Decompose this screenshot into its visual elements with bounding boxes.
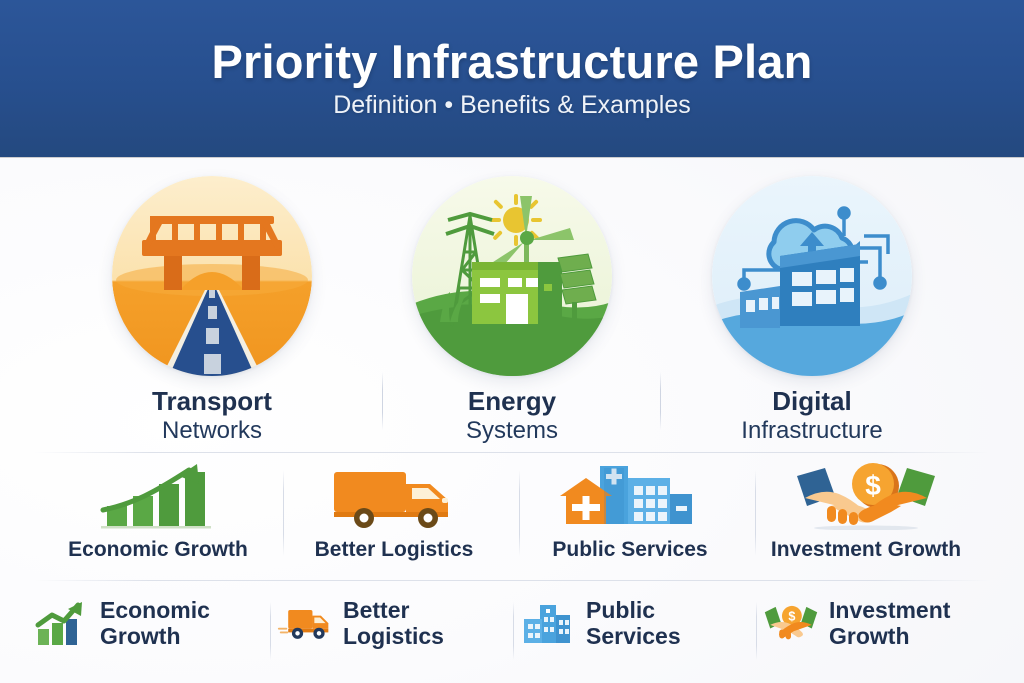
svg-text:$: $: [788, 609, 795, 623]
page-subtitle: Definition • Benefits & Examples: [333, 92, 691, 120]
benefit-compact-line1: Better: [343, 598, 444, 624]
benefit-compact-better-logistics[interactable]: Better Logistics: [269, 598, 512, 650]
benefit-compact-line2: Services: [586, 624, 681, 650]
benefit-compact-line1: Economic: [100, 598, 210, 624]
benefit-label: Economic Growth: [68, 538, 248, 562]
benefits-row: Economic Growth Better Logistics: [40, 462, 984, 574]
hospital-buildings-icon: [520, 601, 576, 647]
pillar-subtitle: Networks: [162, 417, 262, 445]
growth-chart-icon: [93, 462, 223, 530]
delivery-truck-icon: [324, 462, 464, 530]
handshake-dollar-icon: $: [763, 601, 819, 647]
benefits-compact-row: Economic Growth Bet: [26, 588, 998, 660]
pillar-divider: [660, 372, 661, 430]
delivery-truck-icon: [277, 601, 333, 647]
pillar-title: Digital: [772, 386, 851, 417]
benefit-label: Investment Growth: [771, 538, 961, 562]
benefit-investment-growth[interactable]: $ Investment Growth: [748, 462, 984, 562]
pillar-title: Transport: [152, 386, 272, 417]
benefit-compact-line2: Growth: [829, 624, 950, 650]
growth-chart-icon: [34, 601, 90, 647]
page-title: Priority Infrastructure Plan: [211, 37, 812, 86]
svg-text:$: $: [865, 470, 881, 501]
benefit-compact-investment-growth[interactable]: $ Investment Growth: [755, 598, 998, 650]
hospital-buildings-icon: [560, 462, 700, 530]
benefit-label: Better Logistics: [315, 538, 474, 562]
pillars-row: Transport Networks: [62, 176, 962, 438]
benefit-economic-growth[interactable]: Economic Growth: [40, 462, 276, 562]
pillar-energy[interactable]: Energy Systems: [362, 176, 662, 445]
section-divider: [34, 580, 990, 581]
infographic-poster: Priority Infrastructure Plan Definition …: [0, 0, 1024, 683]
renewable-energy-icon: [412, 176, 612, 376]
pillar-transport[interactable]: Transport Networks: [62, 176, 362, 445]
pillar-divider: [382, 372, 383, 430]
handshake-dollar-icon: $: [791, 462, 941, 530]
header-banner: Priority Infrastructure Plan Definition …: [0, 0, 1024, 157]
benefit-compact-label: Better Logistics: [343, 598, 444, 650]
benefit-public-services[interactable]: Public Services: [512, 462, 748, 562]
pillar-subtitle: Systems: [466, 417, 558, 445]
pillar-subtitle: Infrastructure: [741, 417, 882, 445]
benefit-compact-line1: Investment: [829, 598, 950, 624]
benefit-label: Public Services: [552, 538, 707, 562]
pillar-digital[interactable]: Digital Infrastructure: [662, 176, 962, 445]
benefit-compact-public-services[interactable]: Public Services: [512, 598, 755, 650]
pillar-title: Energy: [468, 386, 556, 417]
benefit-compact-line1: Public: [586, 598, 681, 624]
benefit-compact-line2: Logistics: [343, 624, 444, 650]
benefit-compact-label: Investment Growth: [829, 598, 950, 650]
benefit-compact-line2: Growth: [100, 624, 210, 650]
benefit-better-logistics[interactable]: Better Logistics: [276, 462, 512, 562]
cloud-datacenter-icon: [712, 176, 912, 376]
benefit-compact-label: Public Services: [586, 598, 681, 650]
benefit-compact-label: Economic Growth: [100, 598, 210, 650]
bridge-road-icon: [112, 176, 312, 376]
section-divider: [34, 452, 990, 453]
benefit-compact-economic-growth[interactable]: Economic Growth: [26, 598, 269, 650]
